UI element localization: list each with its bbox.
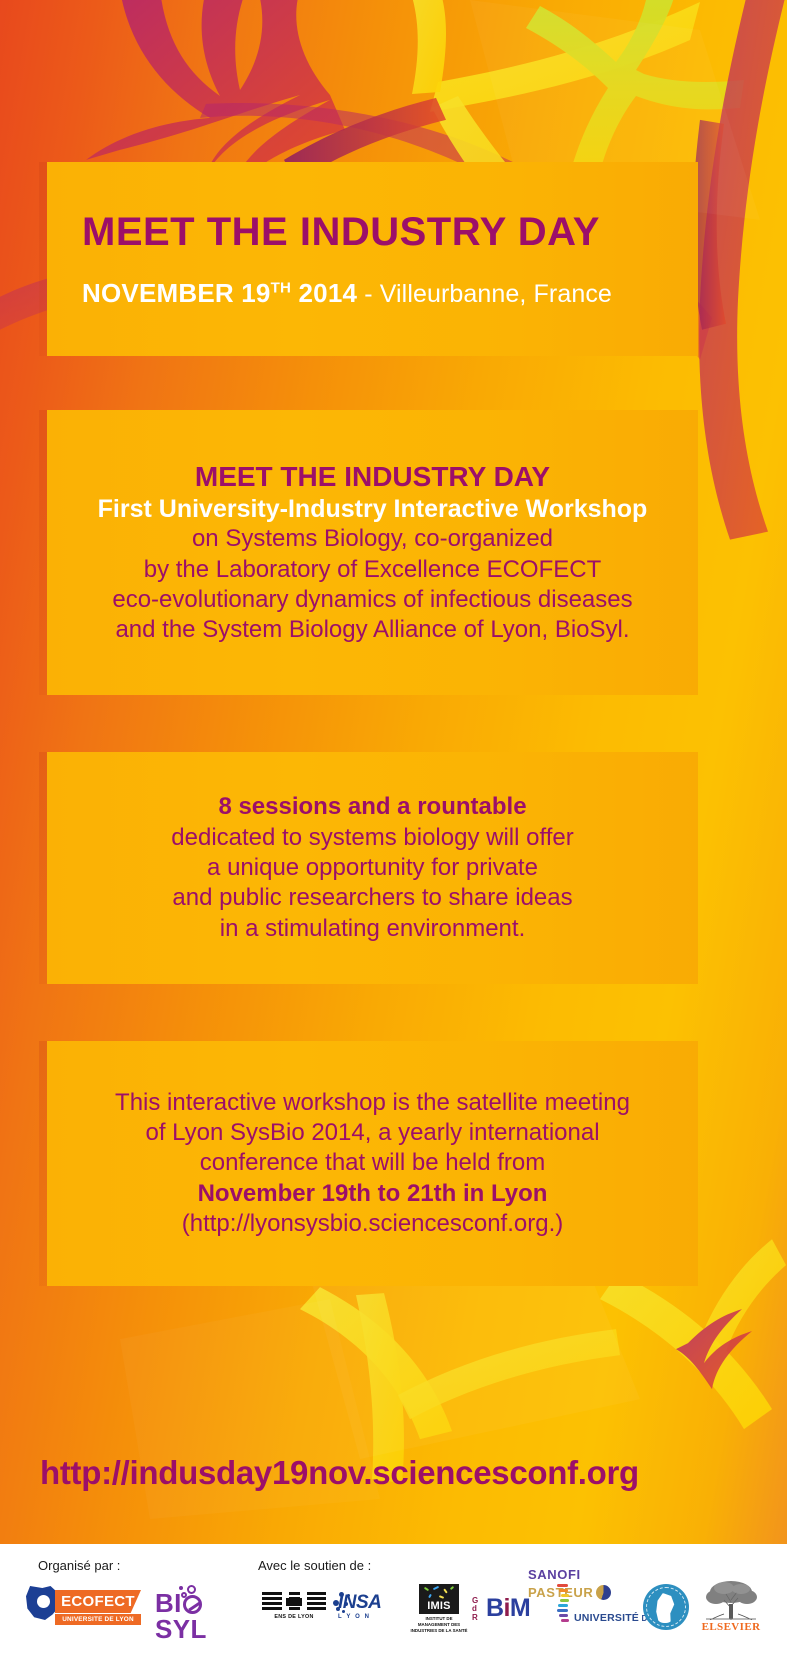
sessions-card: 8 sessions and a rountable dedicated to … (47, 752, 698, 984)
ecofect-subline: UNIVERSITE DE LYON (55, 1614, 141, 1625)
event-date-line: NOVEMBER 19TH 2014 - Villeurbanne, Franc… (82, 280, 698, 307)
bim-b: B (486, 1594, 503, 1622)
header-card: MEET THE INDUSTRY DAY NOVEMBER 19TH 2014… (47, 162, 698, 356)
gdr-r: R (472, 1614, 478, 1622)
ens-sub-label: ENS DE LYON (262, 1614, 326, 1620)
about-heading: MEET THE INDUSTRY DAY (61, 460, 684, 494)
imis-mark-icon: IMIS (419, 1584, 459, 1614)
elsevier-tree-icon (702, 1580, 760, 1620)
sessions-line-3: and public researchers to share ideas (61, 883, 684, 913)
tree-svg (702, 1580, 760, 1620)
logo-universite-de-lyon[interactable]: UNIVERSITÉ DE LYON (540, 1596, 644, 1630)
avenir-profile-icon (643, 1584, 689, 1630)
organised-by-label: Organisé par : (38, 1558, 120, 1573)
biosyl-label-b: SYL (155, 1614, 207, 1644)
logo-imis[interactable]: IMIS INSTITUT DE MANAGEMENT DES INDUSTRI… (409, 1584, 469, 1632)
bim-wordmark: BiM (486, 1594, 530, 1623)
logo-insa-lyon[interactable]: INSA L Y O N (338, 1592, 400, 1624)
event-location: - Villeurbanne, France (357, 280, 612, 308)
logo-elsevier[interactable]: ELSEVIER (697, 1580, 765, 1636)
about-line-3: eco-evolutionary dynamics of infectious … (61, 585, 684, 615)
page-title: MEET THE INDUSTRY DAY (82, 212, 698, 252)
imis-sub-label: INSTITUT DE MANAGEMENT DES INDUSTRIES DE… (409, 1616, 469, 1634)
poster-root: MEET THE INDUSTRY DAY NOVEMBER 19TH 2014… (0, 0, 787, 1654)
logo-sanofi-pasteur[interactable]: SANOFI PASTEUR (528, 1566, 644, 1586)
ecofect-wordmark: ECOFECT (55, 1590, 141, 1613)
gdr-prefix: G d R (472, 1597, 478, 1622)
avenir-ring (646, 1587, 686, 1627)
satellite-line-3: conference that will be held from (61, 1148, 684, 1178)
lyonsysbio-url[interactable]: (http://lyonsysbio.sciencesconf.org.) (61, 1209, 684, 1239)
logo-ecofect[interactable]: ECOFECT UNIVERSITE DE LYON (26, 1586, 141, 1626)
about-subheading: First University-Industry Interactive Wo… (61, 494, 684, 525)
insa-sub-label: L Y O N (338, 1614, 400, 1620)
insa-dots-icon (333, 1590, 355, 1614)
logo-investissements-davenir[interactable] (643, 1584, 691, 1632)
about-line-2: by the Laboratory of Excellence ECOFECT (61, 555, 684, 585)
about-card: MEET THE INDUSTRY DAY First University-I… (47, 410, 698, 695)
satellite-card: This interactive workshop is the satelli… (47, 1041, 698, 1286)
sessions-line-4: in a stimulating environment. (61, 914, 684, 944)
sessions-heading: 8 sessions and a rountable (61, 792, 684, 823)
udl-label-a: UNIVERSITÉ (574, 1612, 639, 1624)
event-date: NOVEMBER 19TH 2014 (82, 278, 357, 308)
date-ordinal-suffix: TH (271, 279, 292, 296)
satellite-dates: November 19th to 21th in Lyon (61, 1179, 684, 1209)
imis-label: IMIS (419, 1600, 459, 1612)
url-banner: http://indusday19nov.sciencesconf.org (0, 1446, 787, 1500)
sanofi-label: SANOFI (528, 1567, 581, 1582)
sessions-line-2: a unique opportunity for private (61, 853, 684, 883)
satellite-line-1: This interactive workshop is the satelli… (61, 1088, 684, 1118)
satellite-line-2: of Lyon SysBio 2014, a yearly internatio… (61, 1118, 684, 1148)
biosyl-cell-icon (183, 1595, 202, 1614)
about-line-4: and the System Biology Alliance of Lyon,… (61, 615, 684, 645)
ecofect-sub-label: UNIVERSITE DE LYON (62, 1616, 134, 1623)
supported-by-label: Avec le soutien de : (258, 1558, 371, 1573)
logo-biosyl[interactable]: BISYL (155, 1590, 247, 1624)
ecofect-label: ECOFECT (61, 1593, 135, 1610)
ens-bars-icon (262, 1592, 326, 1612)
biosyl-wordmark: BISYL (155, 1590, 247, 1642)
footer-logos-bar: Organisé par : Avec le soutien de : ECOF… (0, 1544, 787, 1654)
logo-ens-lyon[interactable]: ENS DE LYON (262, 1592, 326, 1624)
dna-icon (556, 1584, 570, 1628)
elsevier-wordmark: ELSEVIER (697, 1621, 765, 1633)
about-line-1: on Systems Biology, co-organized (61, 524, 684, 554)
sessions-line-1: dedicated to systems biology will offer (61, 823, 684, 853)
conference-url[interactable]: http://indusday19nov.sciencesconf.org (40, 1454, 639, 1492)
